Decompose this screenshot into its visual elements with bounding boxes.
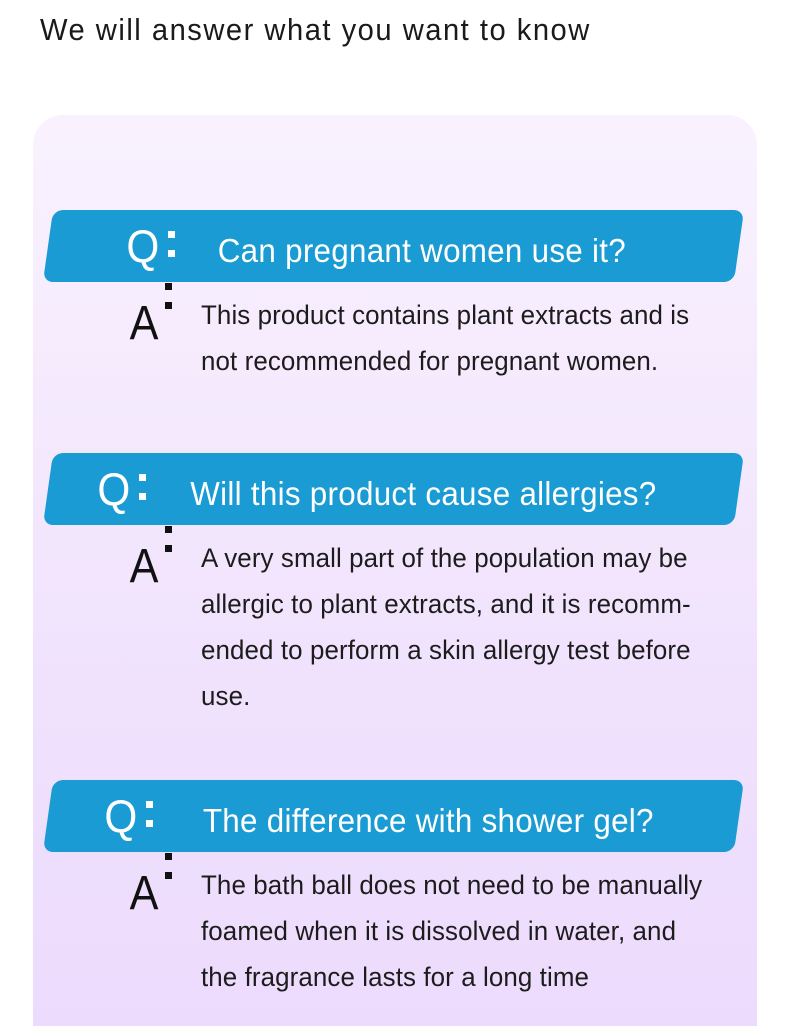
colon-icon [134,472,154,502]
question-prefix-label: Q [126,223,159,269]
question-banner-content: Q Can pregnant women use it? [48,223,739,269]
colon-icon [141,799,161,829]
answer-prefix: A [128,543,179,591]
faq-item: Q Can pregnant women use it? [33,210,757,282]
answer-prefix-label: A [130,870,159,918]
faq-item: Q Will this product cause allergies? [33,453,757,525]
faq-card: Q Can pregnant women use it? A This prod… [33,115,757,1026]
answer-block: A This product contains plant extracts a… [128,300,710,384]
question-text: Will this product cause allergies? [190,477,656,510]
question-banner-content: Q The difference with shower gel? [48,793,739,839]
question-prefix-label: Q [97,466,130,512]
colon-icon [161,307,179,339]
colon-icon [163,229,183,259]
answer-prefix: A [128,870,179,918]
question-prefix-label: Q [104,793,137,839]
answer-block: A A very small part of the population ma… [128,543,711,719]
colon-icon [161,550,179,582]
question-banner[interactable]: Q The difference with shower gel? [43,780,744,852]
question-banner[interactable]: Q Will this product cause allergies? [43,453,744,525]
answer-block: A The bath ball does not need to be manu… [128,870,723,1000]
answer-prefix: A [128,300,179,348]
answer-prefix-label: A [130,543,159,591]
answer-text: This product contains plant extracts and… [201,292,689,384]
question-banner-content: Q Will this product cause allergies? [48,466,739,512]
question-text: The difference with shower gel? [203,804,654,837]
question-text: Can pregnant women use it? [218,234,626,267]
answer-text: The bath ball does not need to be manual… [201,862,702,1000]
answer-text: A very small part of the population may … [201,535,691,719]
colon-icon [161,877,179,909]
page-header: We will answer what you want to know [0,0,790,115]
question-banner[interactable]: Q Can pregnant women use it? [43,210,744,282]
faq-item: Q The difference with shower gel? [33,780,757,852]
page-title: We will answer what you want to know [40,12,591,48]
answer-prefix-label: A [130,300,159,348]
